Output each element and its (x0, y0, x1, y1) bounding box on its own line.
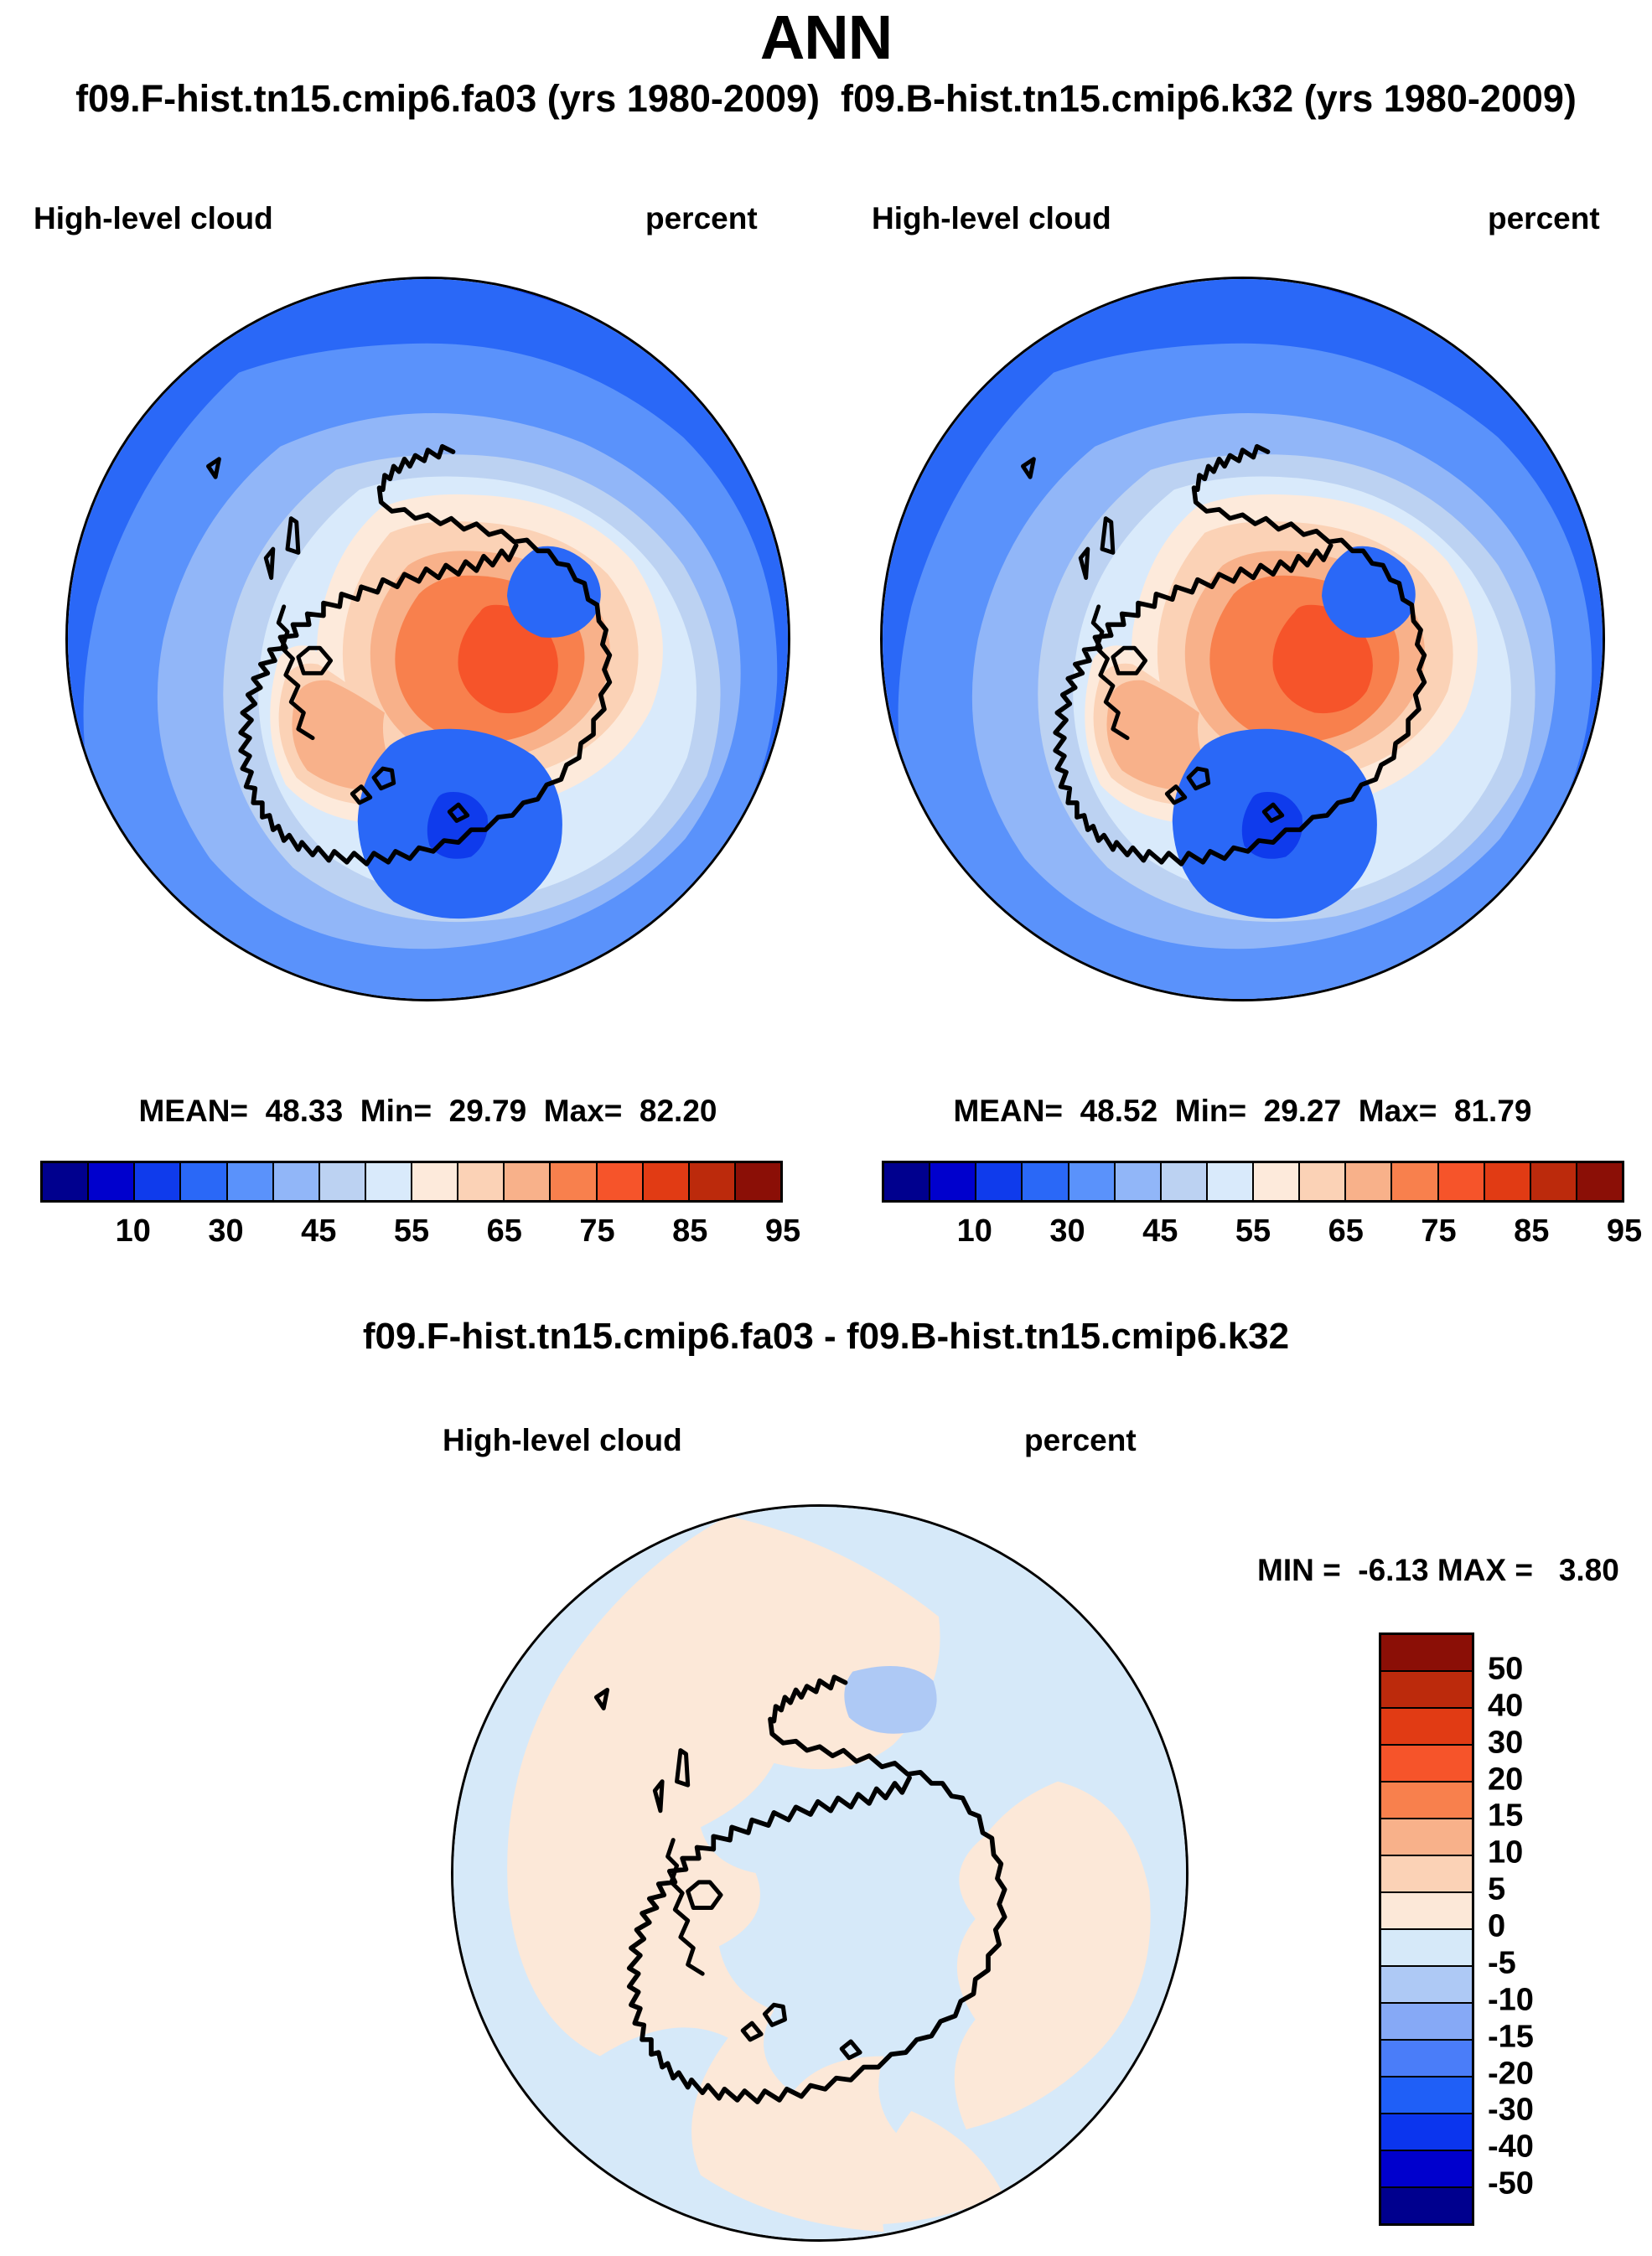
colorbar-cell (1069, 1163, 1116, 1200)
colorbar-cell (1300, 1163, 1346, 1200)
colorbar-cell (1346, 1163, 1392, 1200)
colorbar-tick-label: 45 (301, 1213, 336, 1250)
colorbar-tick-label: 10 (116, 1213, 151, 1250)
colorbar-cell (1381, 2077, 1472, 2114)
colorbar-cell (1381, 1635, 1472, 1672)
colorbar-tick-label: 30 (1488, 1725, 1523, 1761)
colorbar-tick-label: -10 (1488, 1982, 1534, 2018)
colorbar-cell (1381, 1819, 1472, 1856)
colorbar-cell (366, 1163, 412, 1200)
colorbar-cell (1392, 1163, 1438, 1200)
colorbar-cell (976, 1163, 1023, 1200)
colorbar-cell (1162, 1163, 1208, 1200)
colorbar-tick-label: 30 (208, 1213, 243, 1250)
left-panel-map[interactable] (65, 277, 790, 1001)
left-panel-units-label: percent (645, 201, 758, 236)
diff-panel-minmax: MIN = -6.13 MAX = 3.80 (1257, 1553, 1619, 1588)
colorbar-cell (1116, 1163, 1162, 1200)
colorbar-tick-label: -40 (1488, 2129, 1534, 2165)
colorbar-cell (1381, 2188, 1472, 2223)
colorbar-cell (736, 1163, 780, 1200)
colorbar-cell (1439, 1163, 1485, 1200)
colorbar-tick-label: 65 (1328, 1213, 1364, 1250)
right-panel-colorbar-ticks: 1030455565758595 (882, 1213, 1624, 1252)
colorbar-cell (228, 1163, 274, 1200)
colorbar-cell (1254, 1163, 1300, 1200)
colorbar-cell (551, 1163, 597, 1200)
colorbar-cell (274, 1163, 320, 1200)
colorbar-tick-label: 85 (1514, 1213, 1549, 1250)
colorbar-tick-label: 10 (957, 1213, 992, 1250)
diff-panel-map[interactable] (451, 1504, 1189, 2242)
colorbar-cell (89, 1163, 135, 1200)
colorbar-cell (1381, 1709, 1472, 1746)
colorbar-tick-label: -5 (1488, 1945, 1516, 1981)
right-panel-colorbar[interactable] (882, 1161, 1624, 1203)
colorbar-tick-label: 75 (1421, 1213, 1456, 1250)
diff-panel-units-label: percent (1024, 1423, 1137, 1458)
colorbar-tick-label: 95 (765, 1213, 800, 1250)
right-panel-variable-label: High-level cloud (872, 201, 1111, 236)
colorbar-cell (1577, 1163, 1622, 1200)
colorbar-cell (1023, 1163, 1069, 1200)
colorbar-tick-label: -15 (1488, 2019, 1534, 2055)
colorbar-cell (135, 1163, 181, 1200)
colorbar-cell (1381, 2004, 1472, 2041)
colorbar-cell (930, 1163, 976, 1200)
left-panel-variable-label: High-level cloud (34, 201, 273, 236)
colorbar-tick-label: 50 (1488, 1651, 1523, 1687)
diff-panel-variable-label: High-level cloud (443, 1423, 682, 1458)
colorbar-tick-label: 30 (1049, 1213, 1085, 1250)
colorbar-cell (884, 1163, 930, 1200)
colorbar-cell (1381, 1746, 1472, 1783)
colorbar-tick-label: 65 (487, 1213, 522, 1250)
colorbar-tick-label: -30 (1488, 2093, 1534, 2129)
colorbar-cell (458, 1163, 505, 1200)
colorbar-cell (1381, 1967, 1472, 2004)
diff-contour-plot (453, 1507, 1186, 2239)
colorbar-cell (1208, 1163, 1254, 1200)
colorbar-cell (1381, 2151, 1472, 2188)
colorbar-cell (1531, 1163, 1577, 1200)
colorbar-tick-label: 20 (1488, 1762, 1523, 1798)
colorbar-tick-label: -50 (1488, 2166, 1534, 2202)
colorbar-cell (505, 1163, 551, 1200)
colorbar-tick-label: 55 (1235, 1213, 1271, 1250)
colorbar-tick-label: 45 (1142, 1213, 1178, 1250)
colorbar-cell (1381, 1783, 1472, 1819)
colorbar-tick-label: 55 (394, 1213, 429, 1250)
colorbar-cell (43, 1163, 89, 1200)
colorbar-tick-label: 40 (1488, 1688, 1523, 1724)
right-panel-stats: MEAN= 48.52 Min= 29.27 Max= 81.79 (880, 1094, 1605, 1129)
right-contour-plot (883, 279, 1603, 999)
left-panel-colorbar-ticks: 1030455565758595 (40, 1213, 783, 1252)
page-title: ANN (0, 2, 1652, 73)
colorbar-tick-label: 85 (672, 1213, 707, 1250)
colorbar-cell (412, 1163, 458, 1200)
colorbar-tick-label: 15 (1488, 1798, 1523, 1834)
case-subtitle: f09.F-hist.tn15.cmip6.fa03 (yrs 1980-200… (0, 77, 1652, 121)
colorbar-cell (1381, 1893, 1472, 1930)
left-contour-plot (68, 279, 788, 999)
diff-panel-title: f09.F-hist.tn15.cmip6.fa03 - f09.B-hist.… (0, 1316, 1652, 1358)
colorbar-cell (1381, 1672, 1472, 1709)
colorbar-cell (1381, 2114, 1472, 2151)
colorbar-tick-label: 0 (1488, 1909, 1505, 1945)
colorbar-cell (598, 1163, 644, 1200)
colorbar-cell (181, 1163, 227, 1200)
colorbar-cell (690, 1163, 736, 1200)
colorbar-cell (1381, 2041, 1472, 2077)
colorbar-cell (644, 1163, 690, 1200)
colorbar-cell (320, 1163, 366, 1200)
left-panel-colorbar[interactable] (40, 1161, 783, 1203)
colorbar-cell (1485, 1163, 1531, 1200)
colorbar-cell (1381, 1856, 1472, 1893)
right-panel-map[interactable] (880, 277, 1605, 1001)
left-panel-stats: MEAN= 48.33 Min= 29.79 Max= 82.20 (65, 1094, 790, 1129)
colorbar-tick-label: 75 (579, 1213, 614, 1250)
colorbar-tick-label: 10 (1488, 1835, 1523, 1871)
colorbar-tick-label: 95 (1607, 1213, 1642, 1250)
colorbar-tick-label: -20 (1488, 2056, 1534, 2092)
colorbar-tick-label: 5 (1488, 1872, 1505, 1908)
colorbar-cell (1381, 1930, 1472, 1967)
right-panel-units-label: percent (1488, 201, 1600, 236)
diff-panel-colorbar[interactable] (1379, 1632, 1474, 2226)
